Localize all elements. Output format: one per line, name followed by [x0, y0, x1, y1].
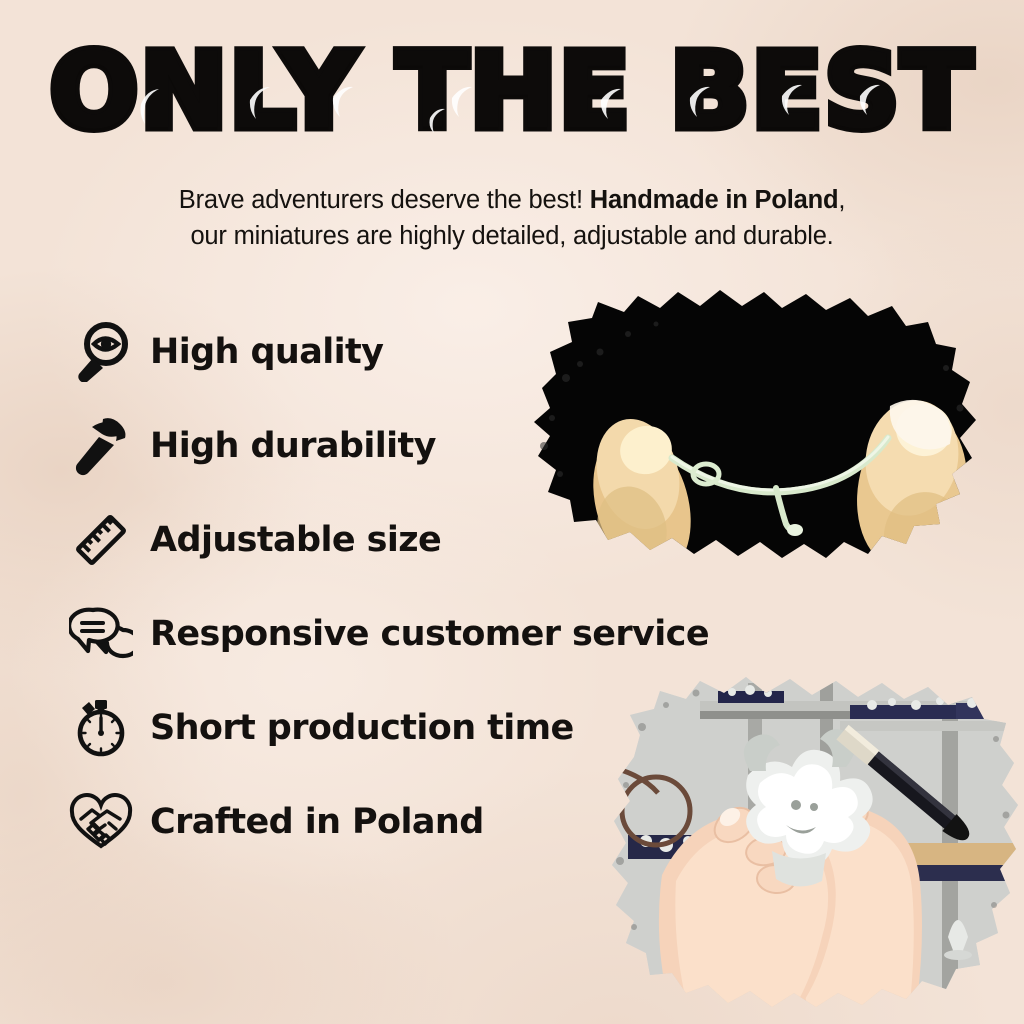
subtitle-line1-tail: , [838, 186, 845, 214]
painting-workshop-photo [600, 665, 1024, 1024]
subtitle-line2: our miniatures are highly detailed, adju… [190, 222, 833, 250]
subtitle: Brave adventurers deserve the best! Hand… [0, 182, 1024, 254]
speech-bubbles-icon [62, 598, 140, 670]
page-title: ONLY THE BEST [0, 38, 1024, 144]
feature-label: Crafted in Poland [150, 802, 484, 842]
feature-label: Short production time [150, 708, 574, 748]
feature-label: High quality [150, 332, 383, 372]
subtitle-line1-bold: Handmade in Poland [590, 186, 839, 214]
feature-label: Adjustable size [150, 520, 441, 560]
feature-label: Responsive customer service [150, 614, 709, 654]
ruler-icon [62, 504, 140, 576]
handshake-heart-icon [62, 786, 140, 858]
stopwatch-icon [62, 692, 140, 764]
hammer-icon [62, 410, 140, 482]
magnifier-eye-icon [62, 316, 140, 388]
photo-torn-shape [520, 278, 990, 578]
promo-poster: ONLY THE BEST Brave adventurers deserve … [0, 0, 1024, 1024]
bendable-miniature-photo [520, 278, 990, 578]
feature-label: High durability [150, 426, 436, 466]
subtitle-line1-lead: Brave adventurers deserve the best! [179, 186, 583, 214]
photo-torn-shape [600, 665, 1024, 1024]
